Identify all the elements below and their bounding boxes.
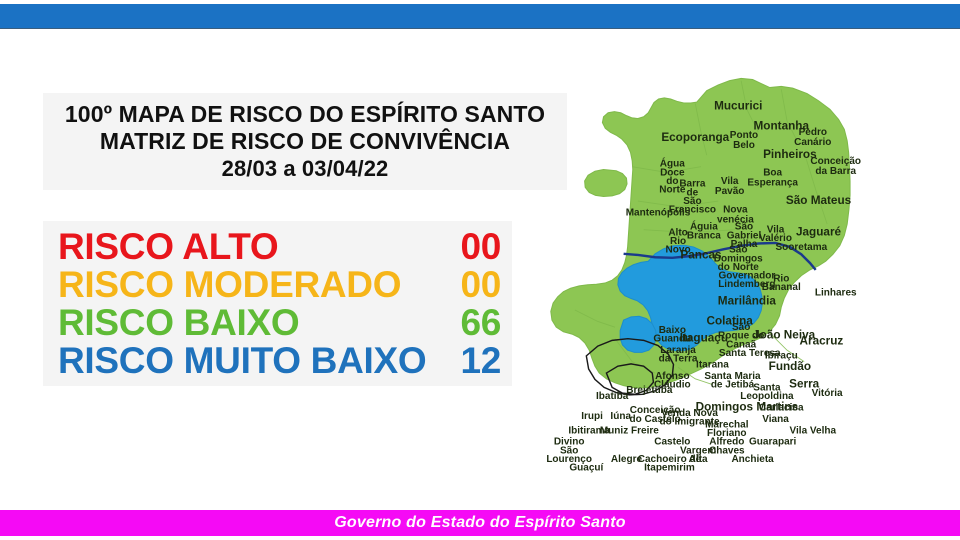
svg-text:Pancas: Pancas <box>680 248 722 261</box>
svg-text:Iúna: Iúna <box>610 411 631 422</box>
svg-text:Branca: Branca <box>687 230 721 241</box>
risk-row-muito-baixo: RISCO MUITO BAIXO 12 <box>58 342 501 380</box>
svg-text:Mucurici: Mucurici <box>714 99 762 112</box>
svg-text:Irupi: Irupi <box>581 411 603 422</box>
risk-count-baixo: 66 <box>460 304 501 342</box>
svg-text:Pavão: Pavão <box>715 186 745 197</box>
risk-label-moderado: RISCO MODERADO <box>58 266 401 304</box>
svg-text:Belo: Belo <box>733 140 755 151</box>
svg-text:de Jetibá: de Jetibá <box>711 379 755 390</box>
svg-text:Ibatiba: Ibatiba <box>596 391 629 402</box>
svg-text:Santa Teresa: Santa Teresa <box>719 348 781 359</box>
svg-text:Vitória: Vitória <box>812 388 843 399</box>
risk-count-moderado: 00 <box>460 266 501 304</box>
svg-text:Pinheiros: Pinheiros <box>763 148 817 161</box>
risk-count-muito-baixo: 12 <box>460 342 501 380</box>
risk-row-baixo: RISCO BAIXO 66 <box>58 304 501 342</box>
footer-text: Governo do Estado do Espírito Santo <box>334 514 625 532</box>
svg-text:da Terra: da Terra <box>659 354 698 365</box>
footer-bar: Governo do Estado do Espírito Santo <box>0 510 960 536</box>
title-line-2: MATRIZ DE RISCO DE CONVIVÊNCIA <box>100 128 510 155</box>
svg-text:da Barra: da Barra <box>815 166 856 177</box>
svg-text:Vila Velha: Vila Velha <box>790 425 837 436</box>
svg-text:São Mateus: São Mateus <box>786 194 852 207</box>
espirito-santo-risk-map: Mucurici Montanha Pedro Canário Ecoporan… <box>528 52 960 482</box>
svg-text:Cariacica: Cariacica <box>759 402 804 413</box>
risk-row-alto: RISCO ALTO 00 <box>58 228 501 266</box>
svg-text:Itarana: Itarana <box>696 359 729 370</box>
svg-text:Esperança: Esperança <box>747 177 798 188</box>
risk-label-alto: RISCO ALTO <box>58 228 278 266</box>
svg-text:Linhares: Linhares <box>815 288 857 299</box>
svg-text:Aracruz: Aracruz <box>800 334 844 347</box>
top-decorative-bar <box>0 4 960 29</box>
svg-text:Marilândia: Marilândia <box>718 294 777 307</box>
svg-text:Canário: Canário <box>794 137 831 148</box>
title-date-range: 28/03 a 03/04/22 <box>222 155 389 182</box>
risk-label-baixo: RISCO BAIXO <box>58 304 299 342</box>
svg-text:Muniz Freire: Muniz Freire <box>600 425 659 436</box>
svg-text:Bananal: Bananal <box>762 282 801 293</box>
title-line-1: 100º MAPA DE RISCO DO ESPÍRITO SANTO <box>65 101 545 128</box>
svg-text:Mantenópolis: Mantenópolis <box>626 207 691 218</box>
risk-row-moderado: RISCO MODERADO 00 <box>58 266 501 304</box>
risk-count-alto: 00 <box>460 228 501 266</box>
map-svg: Mucurici Montanha Pedro Canário Ecoporan… <box>528 52 960 482</box>
svg-text:Ecoporanga: Ecoporanga <box>661 131 729 144</box>
svg-text:Sooretama: Sooretama <box>775 242 827 253</box>
title-panel: 100º MAPA DE RISCO DO ESPÍRITO SANTO MAT… <box>43 93 567 190</box>
svg-text:Jaguaré: Jaguaré <box>796 225 842 238</box>
svg-text:Fundão: Fundão <box>769 360 811 373</box>
svg-text:Anchieta: Anchieta <box>731 454 774 465</box>
risk-label-muito-baixo: RISCO MUITO BAIXO <box>58 342 426 380</box>
svg-text:Guaçuí: Guaçuí <box>569 463 604 474</box>
svg-text:Brejetuba: Brejetuba <box>626 385 673 396</box>
svg-text:Viana: Viana <box>762 414 789 425</box>
svg-text:Guarapari: Guarapari <box>749 437 797 448</box>
risk-legend-panel: RISCO ALTO 00 RISCO MODERADO 00 RISCO BA… <box>43 221 512 386</box>
svg-text:Itapemirim: Itapemirim <box>644 463 695 474</box>
